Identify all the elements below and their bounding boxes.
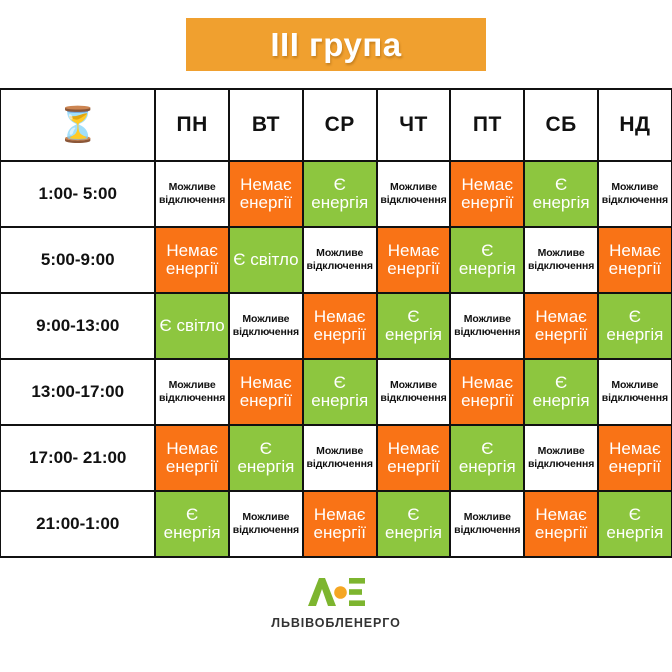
status-cell-пт-yes: Є енергія <box>450 227 524 293</box>
status-cell-label: Є енергія <box>599 308 671 343</box>
status-cell-вт-none: Немає енергії <box>229 161 303 227</box>
table-header-row: ⏳ПНВТСРЧТПТСБНД <box>0 89 672 161</box>
day-header-label: ВТ <box>252 113 280 136</box>
time-slot-cell: 1:00- 5:00 <box>0 161 155 227</box>
table-row: 5:00-9:00Немає енергіїЄ світлоМожливе ві… <box>0 227 672 293</box>
day-header-label: СР <box>325 113 355 136</box>
hourglass-icon: ⏳ <box>1 108 154 142</box>
status-cell-вт-yes: Є енергія <box>229 425 303 491</box>
status-cell-label: Можливе відключення <box>304 247 376 273</box>
status-cell-пт-maybe: Можливе відключення <box>450 491 524 557</box>
day-header-label: ПТ <box>473 113 502 136</box>
status-cell-вт-yes: Є світло <box>229 227 303 293</box>
status-cell-label: Є енергія <box>156 506 228 541</box>
table-row: 9:00-13:00Є світлоМожливе відключенняНем… <box>0 293 672 359</box>
status-cell-пт-yes: Є енергія <box>450 425 524 491</box>
time-slot-label: 21:00-1:00 <box>36 514 119 533</box>
status-cell-вт-maybe: Можливе відключення <box>229 293 303 359</box>
status-cell-вт-none: Немає енергії <box>229 359 303 425</box>
day-header-сб: СБ <box>524 89 598 161</box>
status-cell-label: Немає енергії <box>378 242 450 277</box>
status-cell-нд-none: Немає енергії <box>598 227 672 293</box>
time-slot-label: 1:00- 5:00 <box>39 184 117 203</box>
status-cell-ср-yes: Є енергія <box>303 359 377 425</box>
status-cell-сб-maybe: Можливе відключення <box>524 227 598 293</box>
table-row: 1:00- 5:00Можливе відключенняНемає енерг… <box>0 161 672 227</box>
status-cell-label: Немає енергії <box>599 440 671 475</box>
status-cell-пн-none: Немає енергії <box>155 425 229 491</box>
day-header-чт: ЧТ <box>377 89 451 161</box>
table-corner-cell: ⏳ <box>0 89 155 161</box>
status-cell-ср-none: Немає енергії <box>303 293 377 359</box>
status-cell-нд-maybe: Можливе відключення <box>598 161 672 227</box>
status-cell-label: Є світло <box>230 251 302 269</box>
status-cell-label: Можливе відключення <box>156 379 228 405</box>
table-row: 17:00- 21:00Немає енергіїЄ енергіяМожлив… <box>0 425 672 491</box>
status-cell-label: Є енергія <box>304 374 376 409</box>
status-cell-label: Є енергія <box>378 308 450 343</box>
status-cell-label: Немає енергії <box>230 176 302 211</box>
status-cell-label: Є світло <box>156 317 228 335</box>
status-cell-label: Є енергія <box>304 176 376 211</box>
status-cell-label: Є енергія <box>451 242 523 277</box>
status-cell-ср-maybe: Можливе відключення <box>303 227 377 293</box>
day-header-вт: ВТ <box>229 89 303 161</box>
status-cell-сб-maybe: Можливе відключення <box>524 425 598 491</box>
status-cell-label: Є енергія <box>525 176 597 211</box>
status-cell-label: Немає енергії <box>230 374 302 409</box>
status-cell-label: Можливе відключення <box>378 181 450 207</box>
status-cell-пн-maybe: Можливе відключення <box>155 359 229 425</box>
status-cell-пн-maybe: Можливе відключення <box>155 161 229 227</box>
status-cell-label: Можливе відключення <box>525 445 597 471</box>
status-cell-label: Є енергія <box>378 506 450 541</box>
status-cell-label: Можливе відключення <box>156 181 228 207</box>
status-cell-нд-yes: Є енергія <box>598 293 672 359</box>
time-slot-cell: 9:00-13:00 <box>0 293 155 359</box>
status-cell-чт-yes: Є енергія <box>377 491 451 557</box>
status-cell-ср-none: Немає енергії <box>303 491 377 557</box>
status-cell-label: Немає енергії <box>378 440 450 475</box>
footer: ЛЬВІВОБЛЕНЕРГО <box>0 558 672 672</box>
status-cell-label: Немає енергії <box>599 242 671 277</box>
status-cell-пт-none: Немає енергії <box>450 161 524 227</box>
status-cell-нд-yes: Є енергія <box>598 491 672 557</box>
day-header-пн: ПН <box>155 89 229 161</box>
status-cell-пт-none: Немає енергії <box>450 359 524 425</box>
loe-logo-mark-icon <box>306 577 366 612</box>
status-cell-label: Немає енергії <box>156 440 228 475</box>
group-banner: III група <box>186 18 486 71</box>
status-cell-label: Немає енергії <box>156 242 228 277</box>
status-cell-чт-maybe: Можливе відключення <box>377 359 451 425</box>
status-cell-label: Немає енергії <box>525 308 597 343</box>
status-cell-сб-yes: Є енергія <box>524 161 598 227</box>
status-cell-label: Можливе відключення <box>230 313 302 339</box>
status-cell-ср-yes: Є енергія <box>303 161 377 227</box>
status-cell-пн-yes: Є світло <box>155 293 229 359</box>
status-cell-label: Можливе відключення <box>599 379 671 405</box>
status-cell-чт-none: Немає енергії <box>377 425 451 491</box>
status-cell-чт-yes: Є енергія <box>377 293 451 359</box>
day-header-label: СБ <box>545 113 576 136</box>
day-header-нд: НД <box>598 89 672 161</box>
page-title: III група <box>270 28 401 61</box>
status-cell-label: Немає енергії <box>451 176 523 211</box>
status-cell-label: Можливе відключення <box>451 511 523 537</box>
status-cell-пт-maybe: Можливе відключення <box>450 293 524 359</box>
status-cell-label: Є енергія <box>525 374 597 409</box>
table-row: 21:00-1:00Є енергіяМожливе відключенняНе… <box>0 491 672 557</box>
status-cell-label: Немає енергії <box>451 374 523 409</box>
status-cell-нд-maybe: Можливе відключення <box>598 359 672 425</box>
status-cell-label: Немає енергії <box>304 308 376 343</box>
logo-wordmark: ЛЬВІВОБЛЕНЕРГО <box>271 617 400 630</box>
status-cell-label: Немає енергії <box>525 506 597 541</box>
status-cell-label: Немає енергії <box>304 506 376 541</box>
status-cell-label: Можливе відключення <box>378 379 450 405</box>
time-slot-cell: 21:00-1:00 <box>0 491 155 557</box>
time-slot-cell: 17:00- 21:00 <box>0 425 155 491</box>
time-slot-label: 5:00-9:00 <box>41 250 115 269</box>
status-cell-label: Є енергія <box>599 506 671 541</box>
status-cell-label: Можливе відключення <box>451 313 523 339</box>
time-slot-cell: 5:00-9:00 <box>0 227 155 293</box>
status-cell-ср-maybe: Можливе відключення <box>303 425 377 491</box>
status-cell-label: Можливе відключення <box>230 511 302 537</box>
status-cell-label: Є енергія <box>451 440 523 475</box>
status-cell-пн-yes: Є енергія <box>155 491 229 557</box>
status-cell-сб-yes: Є енергія <box>524 359 598 425</box>
day-header-пт: ПТ <box>450 89 524 161</box>
status-cell-label: Можливе відключення <box>525 247 597 273</box>
status-cell-label: Можливе відключення <box>599 181 671 207</box>
status-cell-label: Можливе відключення <box>304 445 376 471</box>
status-cell-вт-maybe: Можливе відключення <box>229 491 303 557</box>
day-header-label: НД <box>619 113 650 136</box>
time-slot-label: 9:00-13:00 <box>36 316 119 335</box>
status-cell-сб-none: Немає енергії <box>524 491 598 557</box>
table-row: 13:00-17:00Можливе відключенняНемає енер… <box>0 359 672 425</box>
status-cell-чт-maybe: Можливе відключення <box>377 161 451 227</box>
schedule-poster: III група ⏳ПНВТСРЧТПТСБНД1:00- 5:00Можли… <box>0 0 672 672</box>
outage-schedule-table: ⏳ПНВТСРЧТПТСБНД1:00- 5:00Можливе відключ… <box>0 88 672 558</box>
day-header-label: ЧТ <box>399 113 428 136</box>
status-cell-пн-none: Немає енергії <box>155 227 229 293</box>
status-cell-нд-none: Немає енергії <box>598 425 672 491</box>
day-header-ср: СР <box>303 89 377 161</box>
time-slot-label: 13:00-17:00 <box>31 382 124 401</box>
time-slot-label: 17:00- 21:00 <box>29 448 126 467</box>
time-slot-cell: 13:00-17:00 <box>0 359 155 425</box>
day-header-label: ПН <box>176 113 207 136</box>
status-cell-чт-none: Немає енергії <box>377 227 451 293</box>
header-banner-area: III група <box>0 0 672 88</box>
status-cell-сб-none: Немає енергії <box>524 293 598 359</box>
status-cell-label: Є енергія <box>230 440 302 475</box>
